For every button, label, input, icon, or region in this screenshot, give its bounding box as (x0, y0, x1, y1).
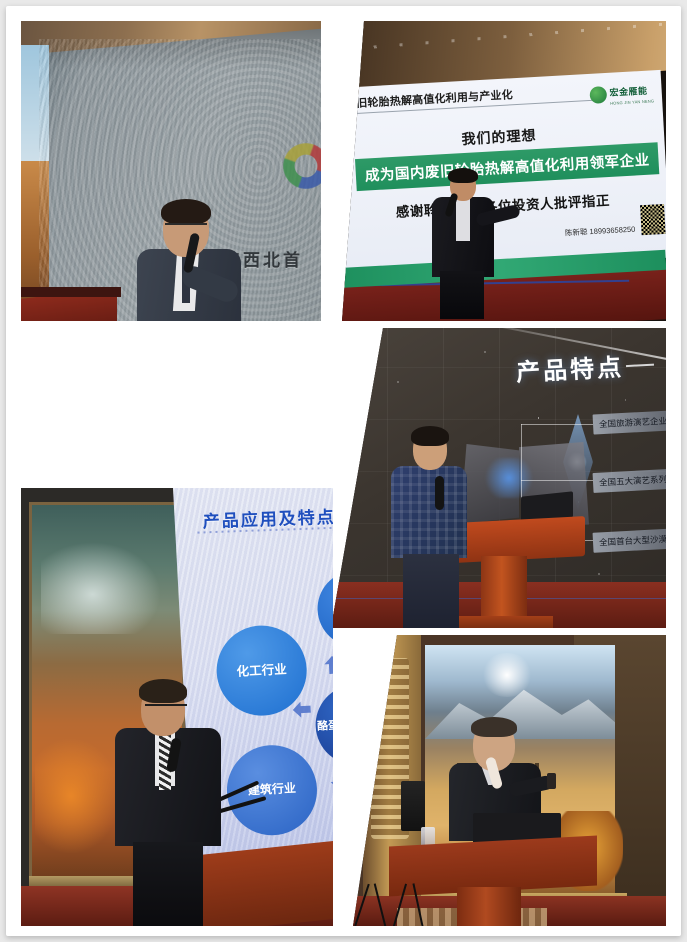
mural-sun (481, 653, 533, 697)
mic-stand-legs (361, 883, 427, 926)
podium-top (21, 287, 121, 297)
microphone-icon (435, 476, 444, 510)
presentation-clicker (547, 773, 556, 789)
pa-speaker-box (401, 781, 425, 831)
photo-middle-right: 产品特点 全国旅游演艺企业十强 全国五大演艺系列品牌之一 全国首台大型沙漠实景剧 (331, 328, 666, 628)
podium-neck (457, 887, 521, 926)
leaf-logo-icon (589, 86, 607, 104)
slide-contact: 陈新聪 18993658250 (565, 224, 636, 239)
speaker-figure (129, 203, 249, 321)
photo-bottom-left: 产品应用及特点 化工行业 食品行业 酪蛋白系列产品 建筑行业 (21, 488, 333, 926)
photo-top-right: 废旧轮胎热解高值化利用与产业化 宏金雁能 HONG JIN YAN NENG 我… (342, 21, 666, 321)
brand-name: 宏金雁能 (609, 86, 648, 98)
slide-bullet-1: 全国旅游演艺企业十强 (593, 409, 666, 434)
photo-top-left: 打造西北首 张掖市 (21, 21, 321, 321)
arrow-down-icon (330, 771, 333, 790)
speaker-figure (111, 684, 241, 926)
bubble-casein: 酪蛋白系列产品 (314, 683, 333, 767)
company-logo: 宏金雁能 HONG JIN YAN NENG (589, 80, 654, 107)
speaker-figure (391, 430, 477, 628)
blue-highlight (481, 458, 537, 498)
brand-subtitle: HONG JIN YAN NENG (610, 98, 654, 105)
qr-code-icon (640, 204, 666, 235)
slide-header: 废旧轮胎热解高值化利用与产业化 (345, 86, 514, 111)
slide-title: 产品特点 (515, 347, 625, 388)
swirl-logo-icon (283, 143, 321, 189)
bubble-food: 食品行业 (316, 569, 333, 649)
arrow-up-icon (324, 655, 333, 674)
photo-bottom-right (353, 635, 666, 926)
speaker-figure (424, 171, 510, 319)
arrow-left-icon (292, 701, 311, 718)
photo-collage: 打造西北首 张掖市 废旧轮胎热解高值化利用与产业化 宏金雁能 (6, 6, 681, 936)
